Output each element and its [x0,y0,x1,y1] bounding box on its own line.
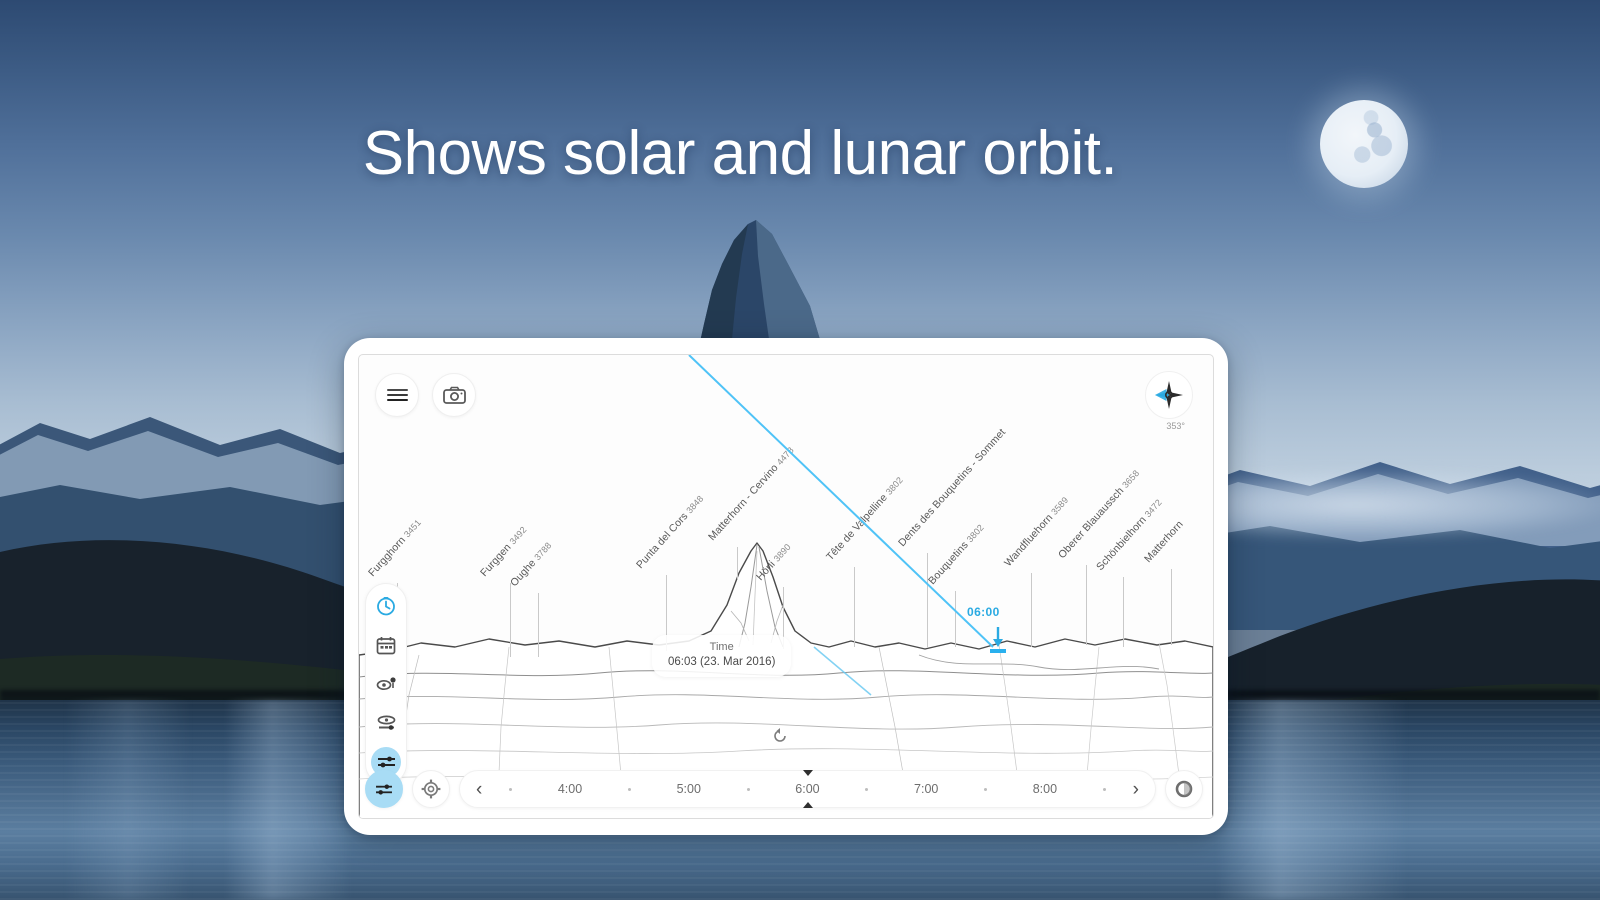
compass-bearing-label: 353° [1166,421,1185,431]
calendar-icon [376,636,396,655]
sliders-icon [377,754,396,770]
bottom-timeline-bar: ‹ 4:00 5:00 6:00 7:00 8:00 › [365,770,1203,808]
moon-phase-button[interactable] [1165,770,1203,808]
timeline-tick [1103,788,1106,791]
timeline-hour-label: 8:00 [1033,782,1057,796]
settings-toggle-button[interactable] [365,770,403,808]
gear-icon [421,779,441,799]
sun-time-label: 06:00 [967,605,1000,619]
timeline-marker-top [803,770,813,776]
hamburger-icon [387,389,408,392]
menu-button[interactable] [375,373,419,417]
time-slider[interactable]: ‹ 4:00 5:00 6:00 7:00 8:00 › [459,770,1156,808]
camera-icon [443,386,466,405]
sun-moon-icon [376,676,397,692]
tooltip-value: 06:03 (23. Mar 2016) [668,655,775,671]
timeline-tick [747,788,750,791]
app-screen: Furgghorn 3451 Furggen 3492 Oughe 3788 P… [358,354,1214,819]
timeline-tick [509,788,512,791]
timeline-ticks: 4:00 5:00 6:00 7:00 8:00 [486,782,1128,796]
time-tooltip: Time 06:03 (23. Mar 2016) [652,635,791,677]
cloud-band [1180,470,1600,540]
compass-icon [1154,380,1184,410]
sidebar-item-sun-moon[interactable] [371,669,401,699]
sliders-icon [375,782,393,797]
camera-button[interactable] [432,373,476,417]
layers-icon [376,715,397,732]
timeline-next-button[interactable]: › [1129,780,1143,799]
timeline-prev-button[interactable]: ‹ [472,780,486,799]
refresh-icon[interactable] [771,727,789,745]
sidebar-item-calendar[interactable] [371,630,401,660]
timeline-tick [984,788,987,791]
timeline-hour-label: 6:00 [795,782,819,796]
timeline-hour-label: 5:00 [677,782,701,796]
timeline-hour-label: 4:00 [558,782,582,796]
timeline-marker-bottom [803,802,813,808]
sun-marker-icon[interactable] [985,627,1011,657]
time-settings-button[interactable] [412,770,450,808]
moon-phase-icon [1174,779,1194,799]
sidebar-item-time[interactable] [371,591,401,621]
left-sidebar [365,583,407,785]
panorama-horizon [359,355,1213,819]
tooltip-title: Time [668,640,775,655]
top-left-toolbar [375,373,476,417]
timeline-hour-label: 7:00 [914,782,938,796]
hamburger-icon [387,399,408,402]
full-moon-icon [1320,100,1408,188]
sidebar-item-layers[interactable] [371,708,401,738]
tablet-device: Furgghorn 3451 Furggen 3492 Oughe 3788 P… [344,338,1228,835]
clock-icon [376,596,396,616]
compass-button[interactable] [1145,371,1193,419]
timeline-tick [628,788,631,791]
hamburger-icon [387,394,408,397]
timeline-tick [865,788,868,791]
